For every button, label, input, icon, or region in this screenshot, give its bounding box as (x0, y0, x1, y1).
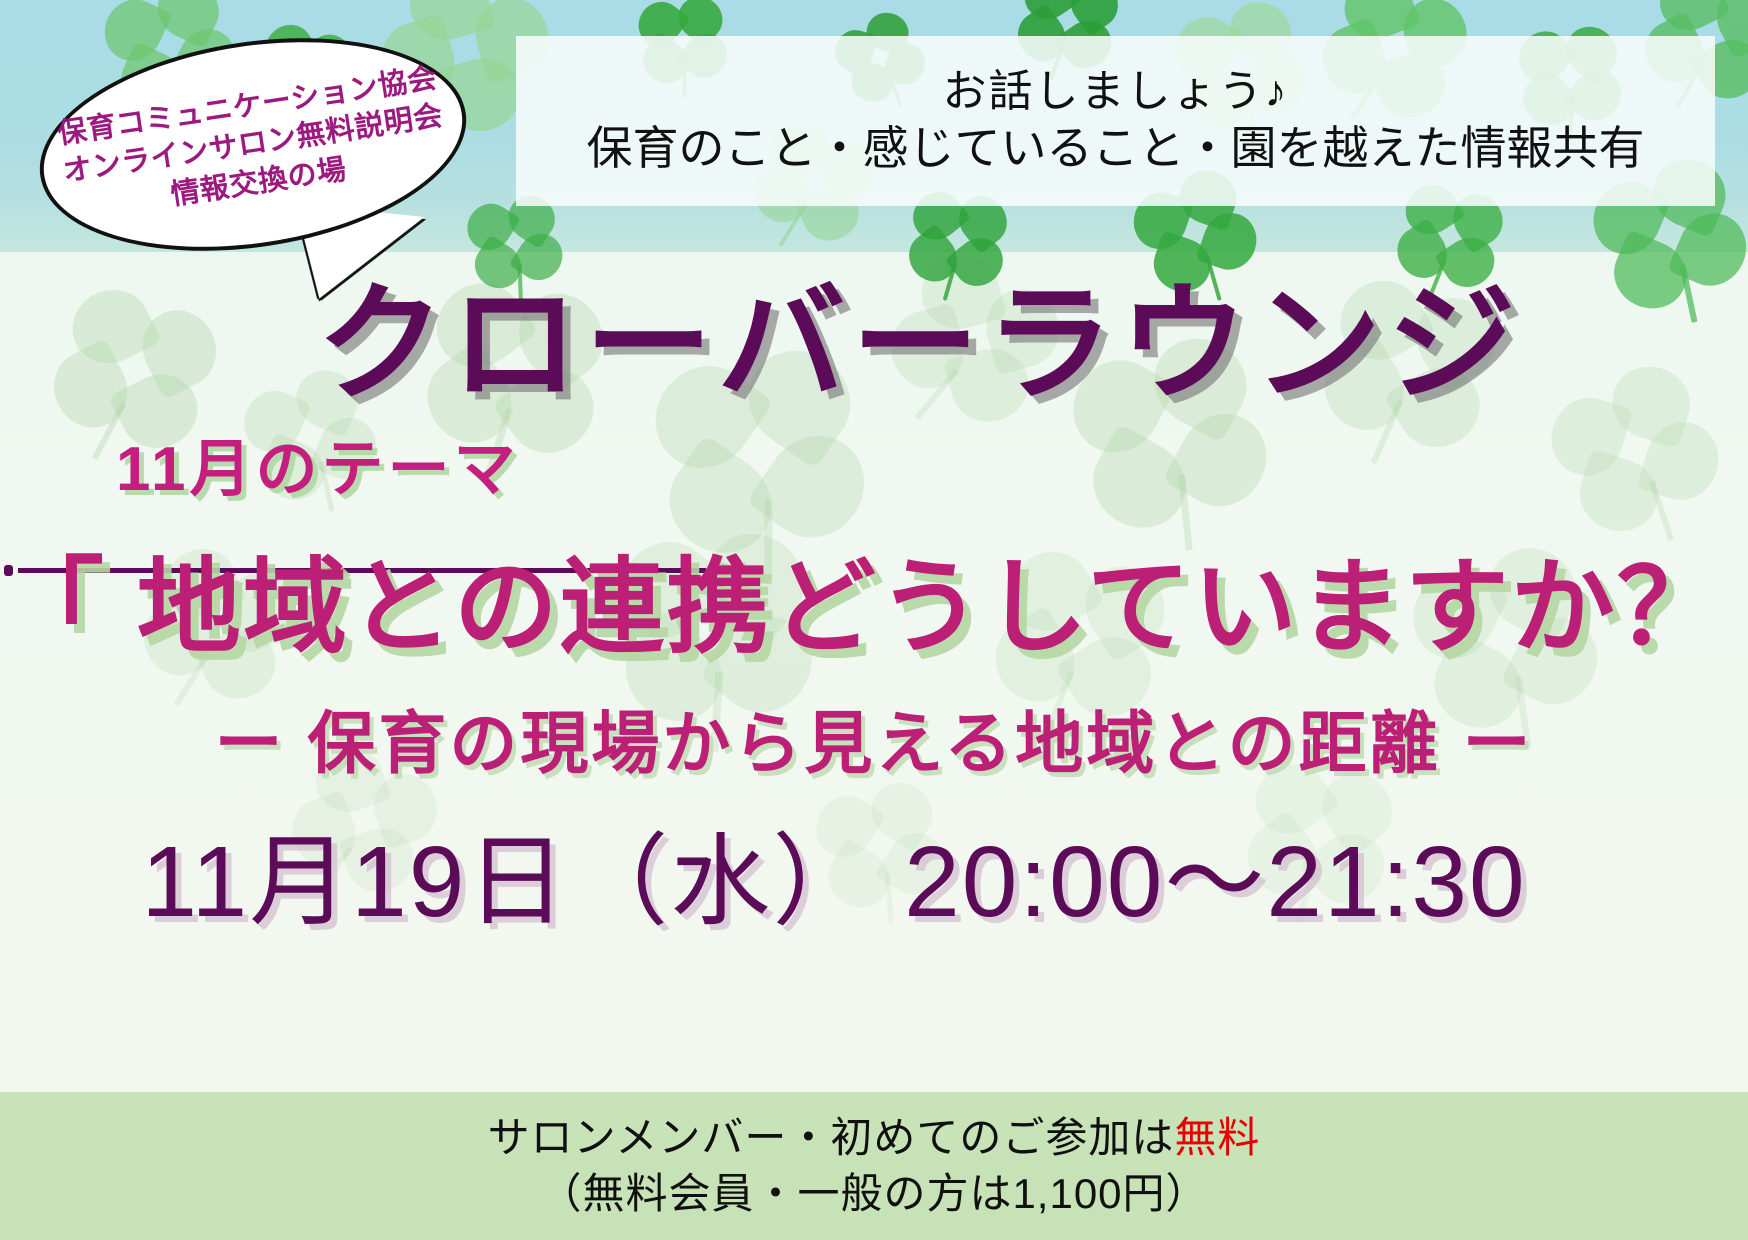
page-title: クローバーラウンジ (0, 278, 1748, 412)
speech-bubble: 保育コミュニケーション協会 オンラインサロン無料説明会 情報交換の場 (38, 42, 488, 292)
footer-free-badge: 無料 (1174, 1114, 1260, 1161)
theme-quote: 「 地域との連携どうしていますか？ 」 (0, 550, 1748, 666)
theme-subtitle: ー 保育の現場から見える地域との距離 ー (0, 688, 1748, 787)
clover-icon-left (22, 430, 94, 496)
event-date-time: 11月19日（水） 20:00〜21:30 (0, 800, 1748, 945)
theme-month-label: 11月のテーマ (116, 418, 520, 508)
event-flyer: お話しましょう♪ 保育のこと・感じていること・園を越えた情報共有 保育コミュニケ… (0, 0, 1748, 1240)
clover-icon-right (542, 430, 614, 496)
theme-label-row: 11月のテーマ (22, 418, 614, 508)
footer-line-2: （無料会員・一般の方は1,100円） (539, 1168, 1208, 1221)
footer-line-1: サロンメンバー・初めてのご参加は無料 (488, 1112, 1261, 1165)
top-message-banner: お話しましょう♪ 保育のこと・感じていること・園を越えた情報共有 (516, 36, 1715, 206)
pricing-footer: サロンメンバー・初めてのご参加は無料 （無料会員・一般の方は1,100円） (0, 1092, 1748, 1240)
footer-price-prefix: サロンメンバー・初めてのご参加は (488, 1114, 1175, 1161)
banner-line-2: 保育のこと・感じていること・園を越えた情報共有 (587, 121, 1645, 176)
banner-line-1: お話しましょう♪ (943, 66, 1289, 119)
